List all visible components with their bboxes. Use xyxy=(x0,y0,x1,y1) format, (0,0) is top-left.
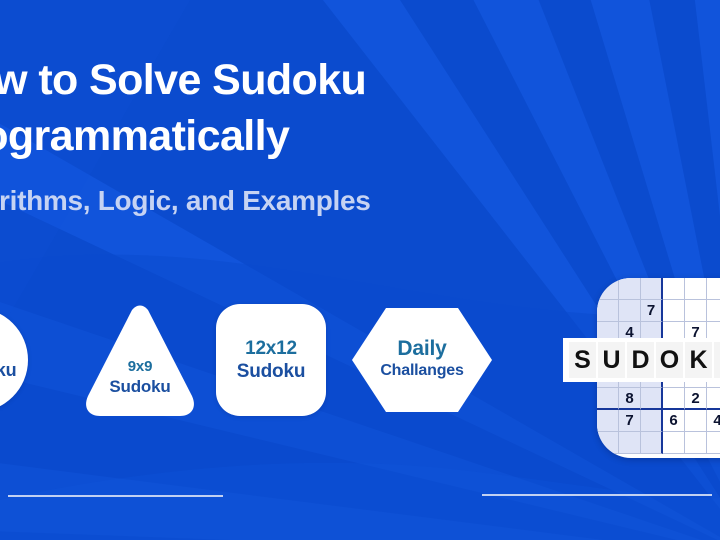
sudoku-cell[interactable] xyxy=(597,278,619,300)
sudoku-letter-tile: O xyxy=(656,342,683,378)
sudoku-cell[interactable] xyxy=(641,388,663,410)
badge-9x9-sudoku[interactable]: 9x9 Sudoku xyxy=(80,300,200,420)
sudoku-letter-tile: D xyxy=(627,342,654,378)
sudoku-letter-tile: S xyxy=(569,342,596,378)
sudoku-cell[interactable] xyxy=(685,278,707,300)
badge-4x4-sudoku[interactable]: 4x4 Sudoku xyxy=(0,308,28,412)
left-rule xyxy=(8,495,223,497)
right-rule xyxy=(482,494,712,496)
sudoku-cell[interactable] xyxy=(685,410,707,432)
banner-canvas: How to Solve Sudoku Programmatically Alg… xyxy=(0,0,720,540)
headline-line-1: How to Solve Sudoku xyxy=(0,52,578,108)
sudoku-cell[interactable] xyxy=(685,300,707,322)
badge-label-primary: Daily xyxy=(397,339,446,359)
badge-label-secondary: Sudoku xyxy=(237,362,305,382)
badge-label-primary: 12x12 xyxy=(245,339,297,359)
sudoku-cell[interactable]: 2 xyxy=(685,388,707,410)
sudoku-cell[interactable] xyxy=(707,278,720,300)
badge-row: 4x4 Sudoku 9x9 Sudoku 12x12 Sudoku Daily… xyxy=(0,300,522,420)
sudoku-cell[interactable] xyxy=(619,300,641,322)
sudoku-cell[interactable] xyxy=(663,432,685,454)
badge-label-secondary: Challanges xyxy=(380,361,463,381)
sudoku-cell[interactable] xyxy=(597,300,619,322)
sudoku-cell[interactable] xyxy=(597,410,619,432)
badge-daily-challanges[interactable]: Daily Challanges xyxy=(350,306,494,414)
headline-block: How to Solve Sudoku Programmatically Alg… xyxy=(0,52,578,218)
badge-label-secondary: Sudoku xyxy=(0,360,16,380)
badge-12x12-sudoku[interactable]: 12x12 Sudoku xyxy=(216,304,326,416)
badge-label-secondary: Sudoku xyxy=(109,377,170,397)
sudoku-cell[interactable] xyxy=(685,432,707,454)
sudoku-cell[interactable] xyxy=(597,432,619,454)
sudoku-cell[interactable] xyxy=(619,432,641,454)
sudoku-cell[interactable] xyxy=(663,278,685,300)
sudoku-letter-tile: K xyxy=(685,342,712,378)
sudoku-cell[interactable] xyxy=(641,410,663,432)
sudoku-cell[interactable] xyxy=(619,278,641,300)
sudoku-cell[interactable] xyxy=(641,432,663,454)
sudoku-cell[interactable]: 8 xyxy=(619,388,641,410)
sudoku-cell[interactable] xyxy=(707,432,720,454)
sudoku-letter-tile: U xyxy=(714,342,720,378)
hexagon-shape xyxy=(350,306,494,414)
sudoku-artwork: 74734182764 SUDOKU xyxy=(597,278,720,458)
sudoku-word-banner: SUDOKU xyxy=(567,340,720,380)
sudoku-cell[interactable] xyxy=(641,278,663,300)
sudoku-cell[interactable] xyxy=(663,388,685,410)
headline-line-2: Programmatically xyxy=(0,108,578,164)
sudoku-cell[interactable]: 4 xyxy=(707,410,720,432)
sudoku-letter-tile: U xyxy=(598,342,625,378)
sudoku-cell[interactable]: 6 xyxy=(663,410,685,432)
sudoku-cell[interactable]: 7 xyxy=(641,300,663,322)
badge-label-primary: 9x9 xyxy=(128,357,152,377)
headline-subtitle: Algorithms, Logic, and Examples xyxy=(0,184,578,218)
sudoku-cell[interactable] xyxy=(707,300,720,322)
sudoku-cell[interactable] xyxy=(707,388,720,410)
sudoku-cell[interactable]: 7 xyxy=(619,410,641,432)
sudoku-cell[interactable] xyxy=(597,388,619,410)
sudoku-cell[interactable] xyxy=(663,300,685,322)
